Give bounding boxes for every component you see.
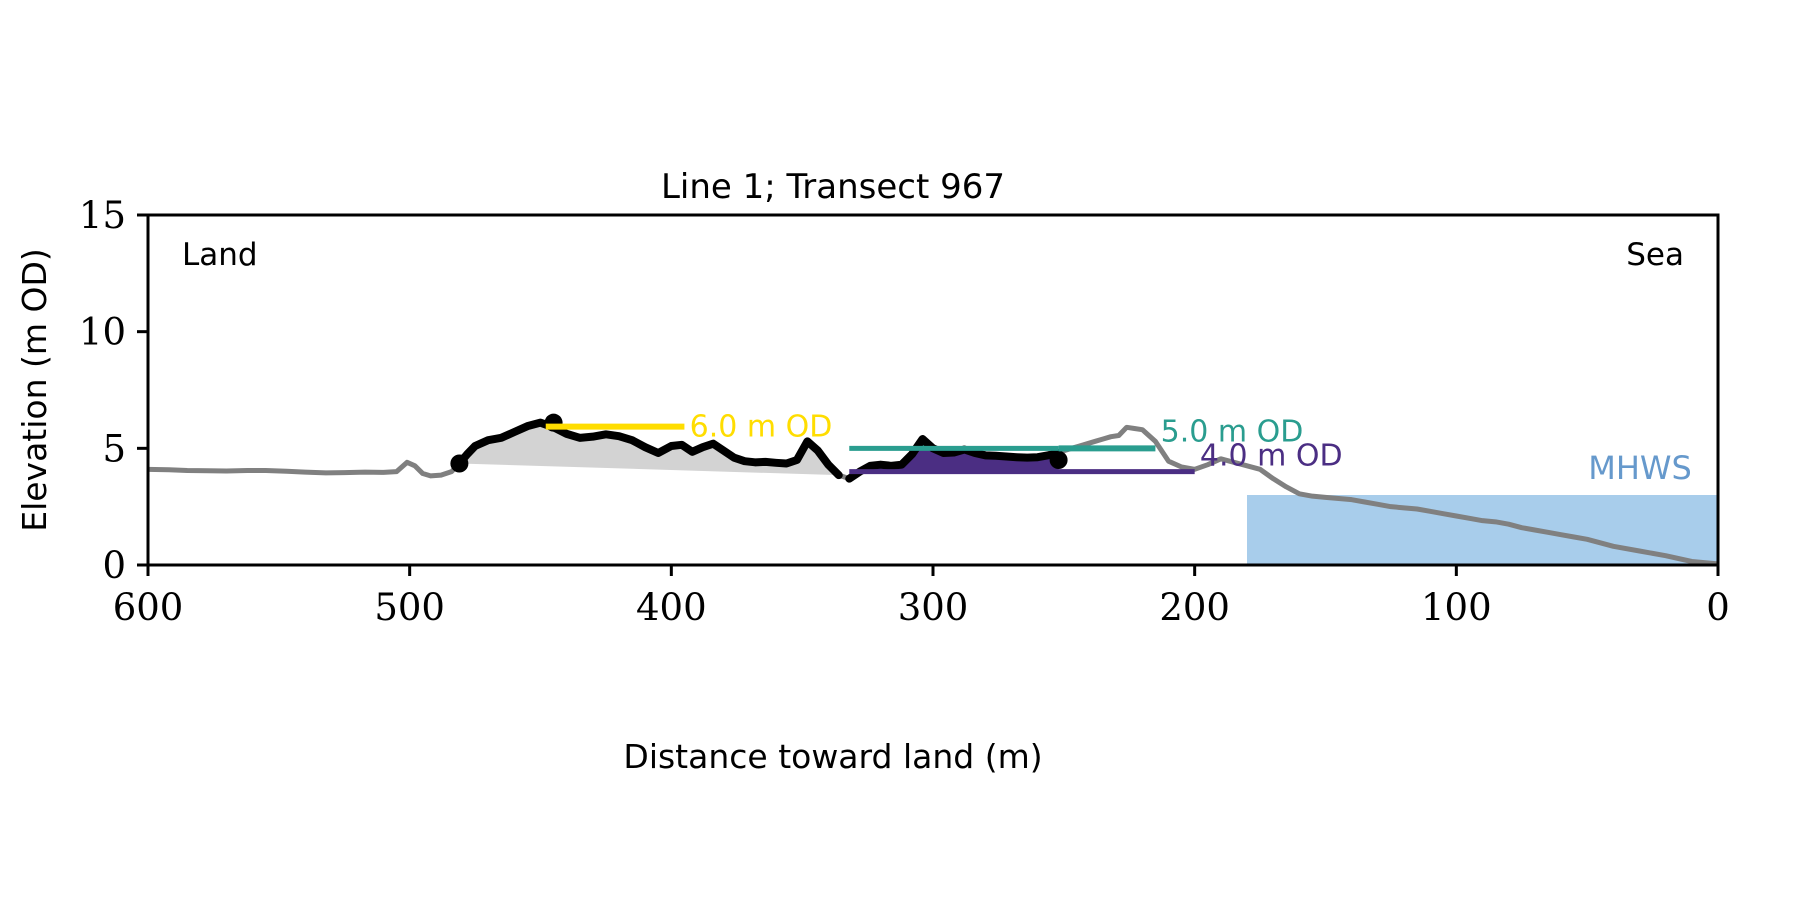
x-tick-label-100: 100: [1421, 586, 1492, 629]
x-tick-label-0: 0: [1706, 586, 1730, 629]
annotation-label-4m: 4.0 m OD: [1200, 439, 1343, 474]
mhws-label: MHWS: [1588, 449, 1692, 487]
profile-marker-dot-2-1: [1050, 451, 1068, 469]
x-tick-label-500: 500: [374, 586, 445, 629]
sea-label: Sea: [1626, 237, 1684, 273]
x-tick-label-400: 400: [636, 586, 707, 629]
x-tick-label-300: 300: [898, 586, 969, 629]
x-axis-label: Distance toward land (m): [623, 737, 1042, 776]
x-tick-label-200: 200: [1159, 586, 1230, 629]
x-tick-label-600: 600: [113, 586, 184, 629]
y-tick-label-10: 10: [79, 311, 126, 354]
profile-marker-dot-1-1: [450, 455, 468, 473]
y-tick-label-0: 0: [102, 544, 126, 587]
annotation-label-6m: 6.0 m OD: [690, 410, 833, 445]
coastal-profile-chart: 6005004003002001000151050 Line 1; Transe…: [0, 0, 1800, 900]
chart-figure: 6005004003002001000151050 Line 1; Transe…: [0, 0, 1800, 900]
y-axis-label: Elevation (m OD): [15, 248, 54, 532]
y-tick-label-15: 15: [79, 194, 126, 237]
chart-title: Line 1; Transect 967: [661, 167, 1005, 207]
y-tick-label-5: 5: [102, 427, 126, 470]
land-label: Land: [182, 237, 258, 273]
